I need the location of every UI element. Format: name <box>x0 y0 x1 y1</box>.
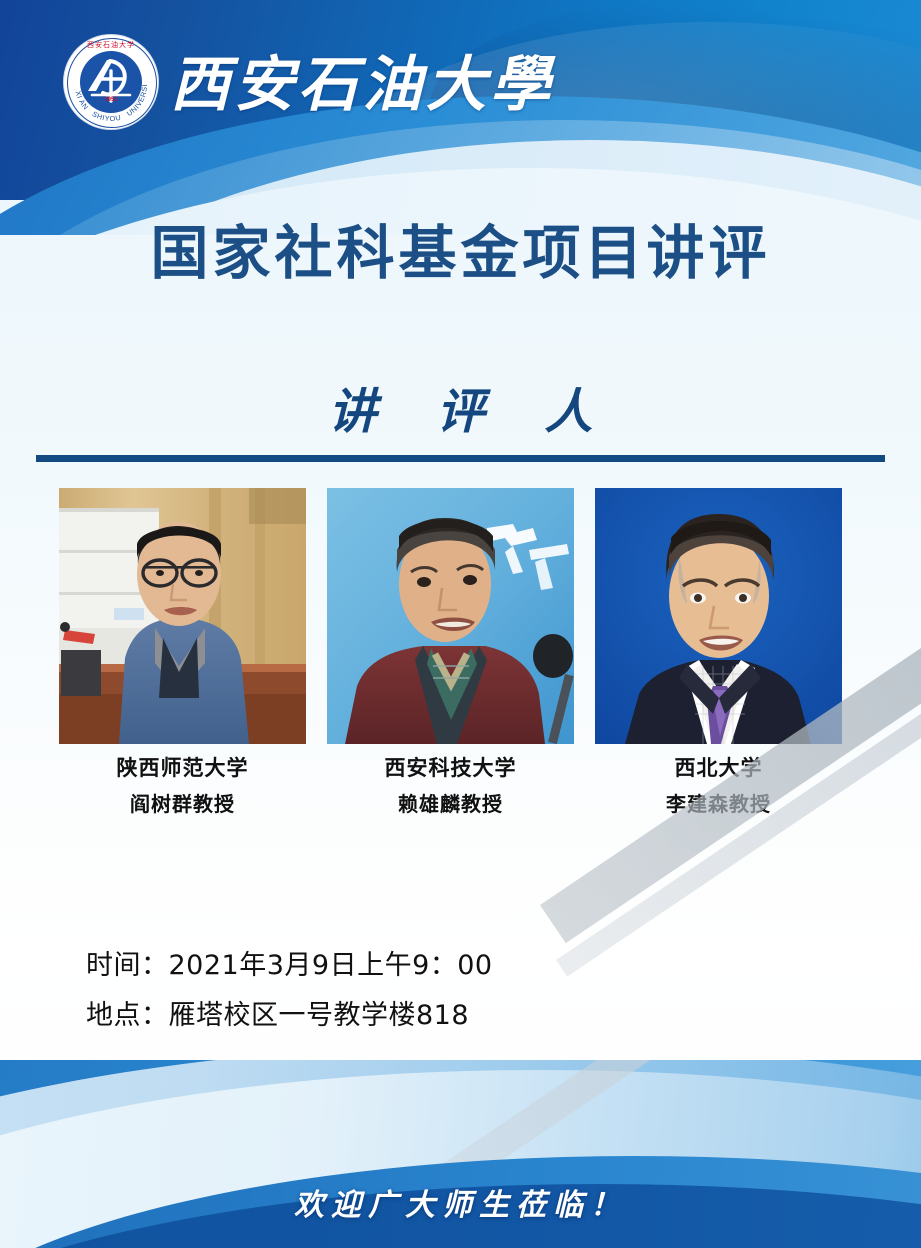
speaker-2-name: 赖雄麟教授 <box>327 788 574 817</box>
speaker-2-organization: 西安科技大学 <box>327 752 574 782</box>
university-name-wordmark: 西安石油大學 <box>170 36 554 123</box>
speaker-photo-2 <box>327 488 574 744</box>
event-time: 时间：2021年3月9日上午9：00 <box>86 943 493 982</box>
welcome-message: 欢迎广大师生莅临！ <box>0 1180 921 1224</box>
speaker-1-name: 阎树群教授 <box>59 788 306 817</box>
section-title-speakers: 讲 评 人 <box>0 372 921 442</box>
speaker-photo-3 <box>595 488 842 744</box>
page-title: 国家社科基金项目讲评 <box>0 206 921 290</box>
event-location: 地点：雁塔校区一号教学楼818 <box>86 993 469 1032</box>
university-logo-icon: 西安石油大学 1951 XI AN SHIYOU UNIVERSITY <box>64 35 158 129</box>
speaker-photo-1 <box>59 488 306 744</box>
speaker-1-organization: 陕西师范大学 <box>59 752 306 782</box>
speaker-photo-row <box>0 488 921 748</box>
svg-text:XI AN SHIYOU UNIVERSITY: XI AN SHIYOU UNIVERSITY <box>64 35 149 123</box>
logo-english-arc: XI AN SHIYOU UNIVERSITY <box>64 35 158 129</box>
poster-root: 西安石油大学 1951 XI AN SHIYOU UNIVERSITY 西安石油… <box>0 0 921 1248</box>
section-divider <box>36 455 885 462</box>
